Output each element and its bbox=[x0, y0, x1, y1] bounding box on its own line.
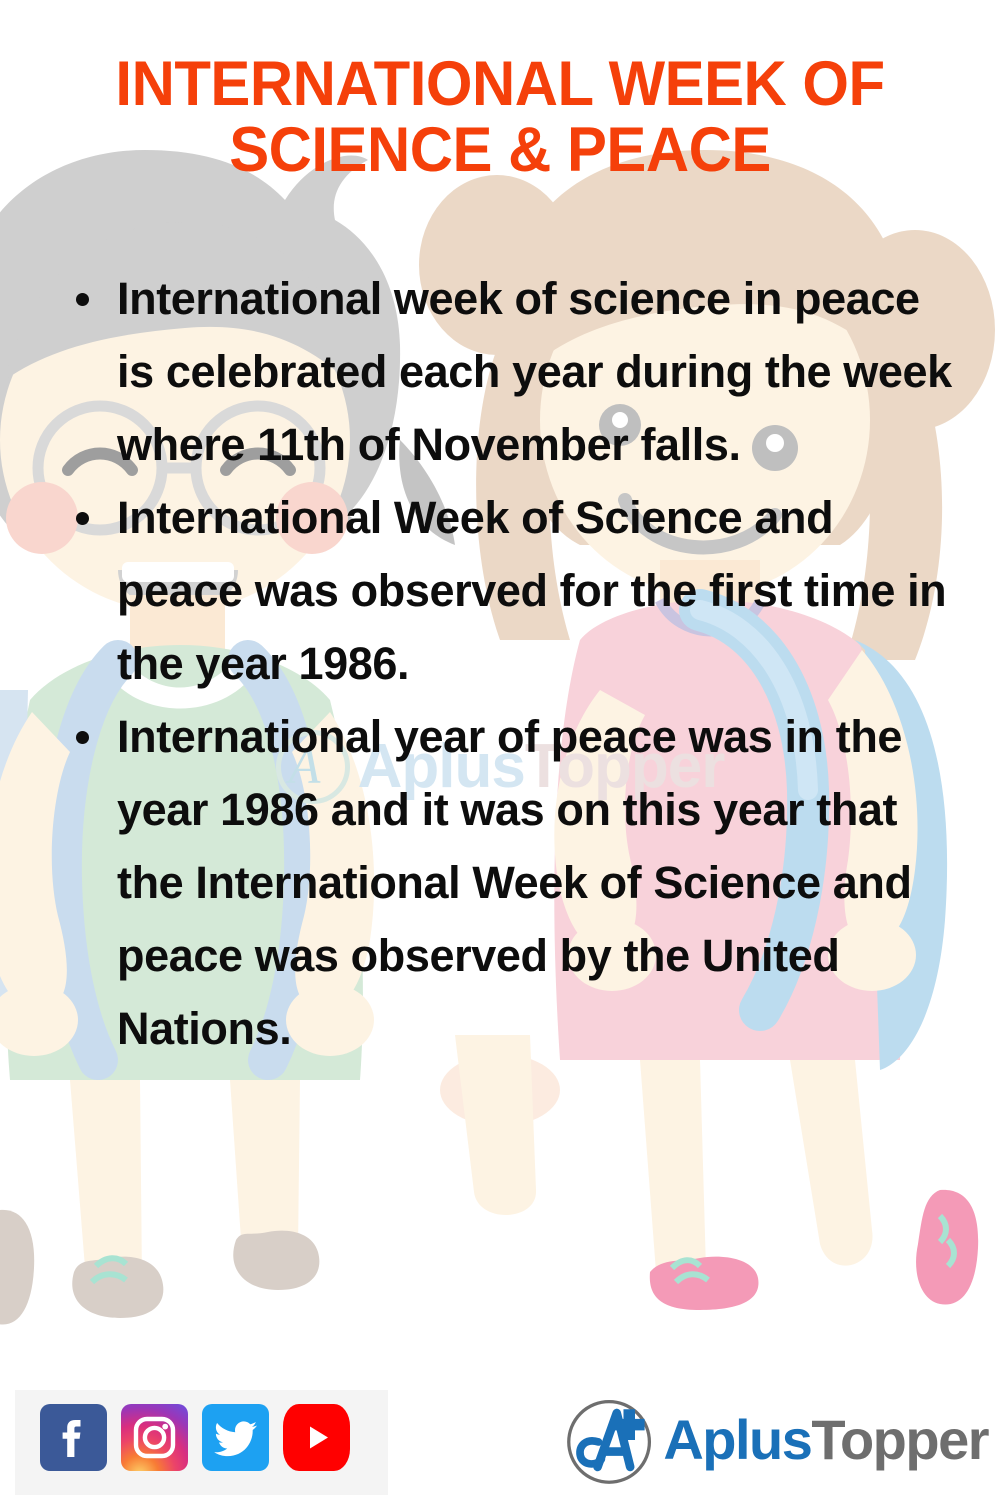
list-item: International week of science in peace i… bbox=[62, 262, 962, 481]
logo-mark-icon bbox=[563, 1392, 659, 1488]
youtube-icon[interactable] bbox=[283, 1404, 350, 1471]
logo-wordmark: AplusTopper bbox=[663, 1412, 988, 1468]
aplustopper-logo[interactable]: AplusTopper bbox=[563, 1388, 988, 1492]
instagram-icon[interactable] bbox=[121, 1404, 188, 1471]
facebook-icon[interactable] bbox=[40, 1404, 107, 1471]
twitter-icon[interactable] bbox=[202, 1404, 269, 1471]
list-item: International year of peace was in the y… bbox=[62, 700, 962, 1065]
poster-root: A AplusTopper INTERNATIONAL WEEK OF SCIE… bbox=[0, 0, 1000, 1500]
title-line-1: INTERNATIONAL WEEK OF bbox=[115, 49, 884, 119]
facts-list: International week of science in peace i… bbox=[62, 262, 962, 1065]
logo-word-primary: Aplus bbox=[663, 1408, 811, 1471]
logo-word-secondary: Topper bbox=[811, 1408, 988, 1471]
list-item: International Week of Science and peace … bbox=[62, 481, 962, 700]
title-line-2: SCIENCE & PEACE bbox=[229, 115, 771, 185]
footer: AplusTopper bbox=[0, 1380, 1000, 1500]
social-links bbox=[40, 1404, 350, 1471]
page-title: INTERNATIONAL WEEK OF SCIENCE & PEACE bbox=[54, 52, 947, 183]
